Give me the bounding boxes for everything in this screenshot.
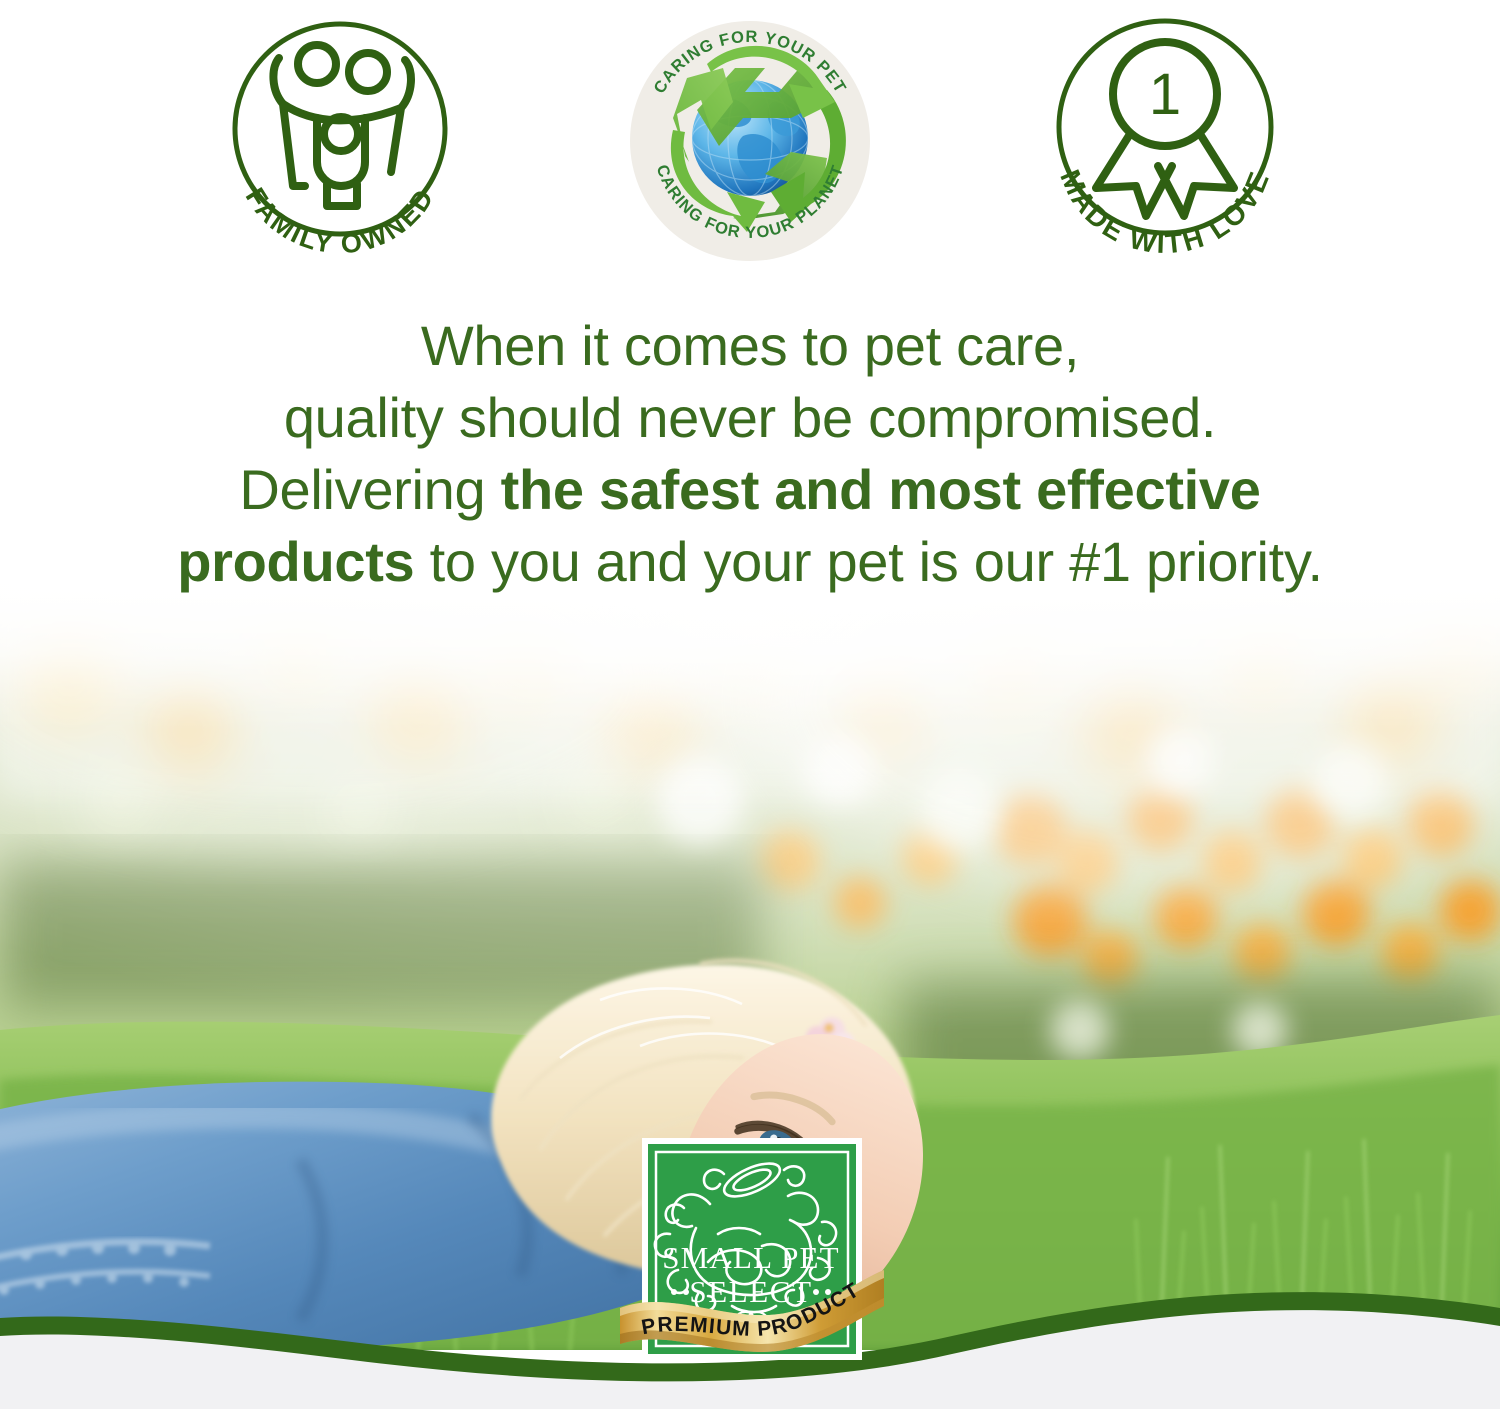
trust-badge-row: FAMILY OWNED bbox=[0, 0, 1500, 285]
family-icon bbox=[273, 45, 411, 206]
badge-caring-pet-planet: CARING FOR YOUR PET CARING FOR YOUR PLAN… bbox=[615, 6, 885, 276]
headline-line-3-plain: Delivering bbox=[239, 458, 500, 521]
headline-line-3-bold: the safest and most effective bbox=[501, 458, 1261, 521]
headline-line-1: When it comes to pet care, bbox=[0, 310, 1500, 382]
brand-logo-badge: SMALL PET SELECT PREMIUM PRODUCT bbox=[612, 1130, 890, 1380]
badge-made-with-love: 1 MADE WITH LOVE bbox=[1030, 6, 1300, 276]
ribbon-number: 1 bbox=[1149, 62, 1181, 127]
logo-name-line-2: SELECT bbox=[689, 1274, 812, 1309]
caring-badge-graphic: CARING FOR YOUR PET CARING FOR YOUR PLAN… bbox=[615, 6, 885, 276]
headline-line-4-bold: products bbox=[177, 530, 414, 593]
promo-banner: FAMILY OWNED bbox=[0, 0, 1500, 1409]
headline-line-4: products to you and your pet is our #1 p… bbox=[0, 526, 1500, 598]
made-with-love-badge-graphic: 1 MADE WITH LOVE bbox=[1030, 6, 1300, 276]
headline: When it comes to pet care, quality shoul… bbox=[0, 310, 1500, 598]
badge-family-owned-label: FAMILY OWNED bbox=[240, 182, 441, 259]
headline-line-4-plain: to you and your pet is our #1 priority. bbox=[414, 530, 1322, 593]
headline-line-2: quality should never be compromised. bbox=[0, 382, 1500, 454]
family-owned-badge-graphic: FAMILY OWNED bbox=[205, 6, 475, 276]
small-pet-select-logo: SMALL PET SELECT PREMIUM PRODUCT bbox=[612, 1130, 890, 1380]
headline-line-3: Delivering the safest and most effective bbox=[0, 454, 1500, 526]
badge-family-owned: FAMILY OWNED bbox=[205, 6, 475, 276]
logo-name-line-1: SMALL PET bbox=[662, 1240, 840, 1275]
